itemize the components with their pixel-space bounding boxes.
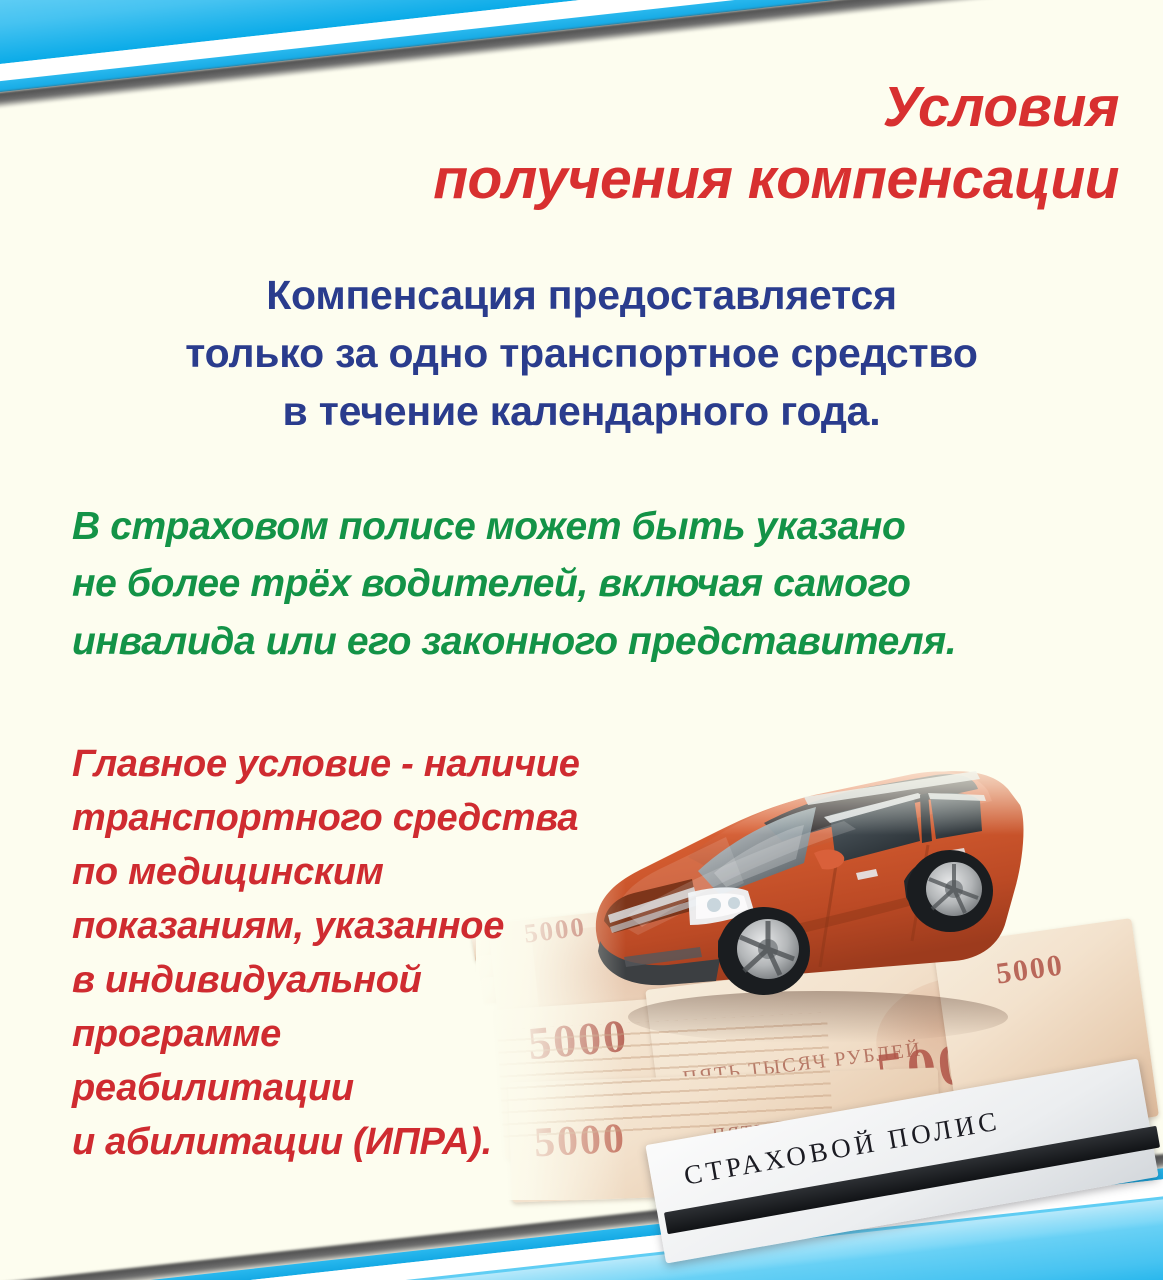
red-line-4: показаниям, указанное [72, 900, 672, 954]
title-line-1: Условия [359, 72, 1119, 144]
red-line-6: программе [72, 1008, 672, 1062]
banner-blue-band [0, 0, 1163, 69]
red-line-8: и абилитации (ИПРА). [72, 1116, 672, 1170]
poster-canvas: Условия получения компенсации Компенсаци… [0, 0, 1163, 1280]
banner-gloss-highlight [0, 1194, 1163, 1280]
poster-title: Условия получения компенсации [359, 72, 1119, 216]
blue-line-1: Компенсация предоставляется [0, 266, 1163, 324]
green-line-2: не более трёх водителей, включая самого [72, 555, 1082, 612]
red-line-7: реабилитации [72, 1062, 672, 1116]
red-line-3: по медицинским [72, 846, 672, 900]
blue-line-2: только за одно транспортное средство [0, 324, 1163, 382]
red-line-5: в индивидуальной [72, 954, 672, 1008]
red-statement-block: Главное условие - наличие транспортного … [72, 738, 672, 1170]
green-statement-block: В страховом полисе может быть указано не… [72, 498, 1082, 670]
green-line-3: инвалида или его законного представителя… [72, 613, 1082, 670]
blue-statement-block: Компенсация предоставляется только за од… [0, 266, 1163, 441]
title-line-2: получения компенсации [359, 144, 1119, 216]
green-line-1: В страховом полисе может быть указано [72, 498, 1082, 555]
red-line-1: Главное условие - наличие [72, 738, 672, 792]
blue-line-3: в течение календарного года. [0, 382, 1163, 440]
red-line-2: транспортного средства [72, 792, 672, 846]
